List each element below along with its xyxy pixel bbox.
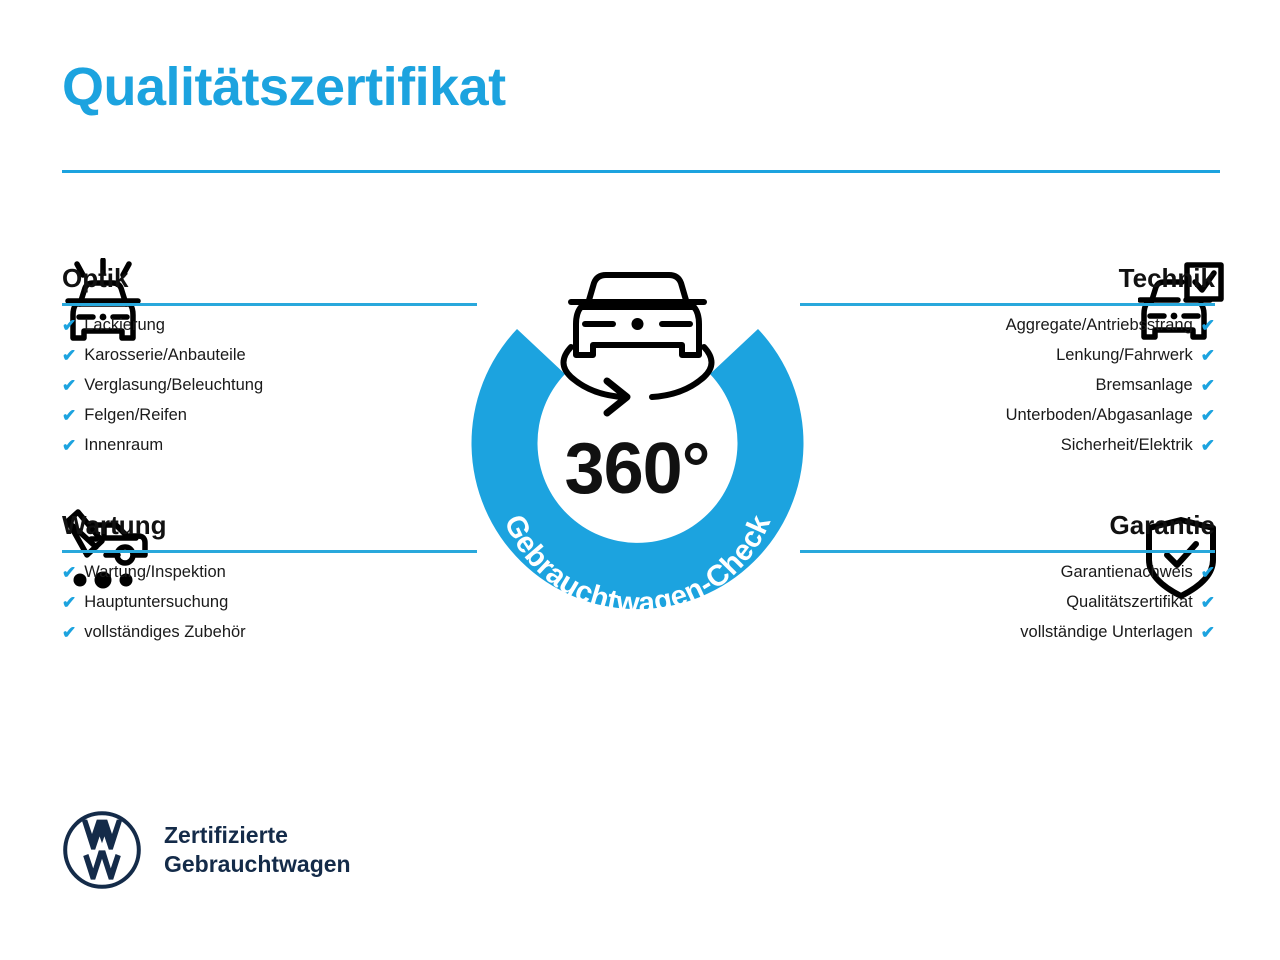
section-title-optik: Optik: [62, 258, 477, 298]
list-item-label: Aggregate/Antriebsstrang: [1006, 310, 1193, 340]
list-item: Aggregate/Antriebsstrang✔: [800, 310, 1215, 340]
list-item: ✔Karosserie/Anbauteile: [62, 340, 477, 370]
list-item: Unterboden/Abgasanlage✔: [800, 400, 1215, 430]
list-item-label: vollständige Unterlagen: [1020, 617, 1192, 647]
checklist-optik: ✔Lackierung ✔Karosserie/Anbauteile ✔Verg…: [62, 310, 477, 460]
section-header-optik: Optik: [62, 258, 477, 310]
title-divider: [62, 170, 1220, 173]
check-icon: ✔: [62, 347, 76, 364]
footer-brand: Zertifizierte Gebrauchtwagen: [62, 810, 351, 890]
list-item: Sicherheit/Elektrik✔: [800, 430, 1215, 460]
check-icon: ✔: [1201, 564, 1215, 581]
check-icon: ✔: [1201, 377, 1215, 394]
check-icon: ✔: [1201, 594, 1215, 611]
section-technik: Technik Aggregate/Antriebsstrang✔ Lenkun…: [800, 258, 1215, 460]
list-item: ✔Lackierung: [62, 310, 477, 340]
list-item: ✔Felgen/Reifen: [62, 400, 477, 430]
list-item-label: Hauptuntersuchung: [84, 587, 228, 617]
list-item: ✔Verglasung/Beleuchtung: [62, 370, 477, 400]
check-icon: ✔: [1201, 407, 1215, 424]
list-item-label: Felgen/Reifen: [84, 400, 187, 430]
check-icon: ✔: [62, 594, 76, 611]
list-item-label: Qualitätszertifikat: [1066, 587, 1193, 617]
list-item-label: Verglasung/Beleuchtung: [84, 370, 263, 400]
section-title-garantie: Garantie: [800, 505, 1215, 545]
section-title-technik: Technik: [800, 258, 1215, 298]
car-rotate-360-icon: [564, 275, 712, 413]
section-header-garantie: Garantie: [800, 505, 1215, 557]
checklist-garantie: Garantienachweis✔ Qualitätszertifikat✔ v…: [800, 557, 1215, 647]
check-icon: ✔: [62, 437, 76, 454]
check-icon: ✔: [1201, 347, 1215, 364]
section-title-wartung: Wartung: [62, 505, 477, 545]
list-item-label: Karosserie/Anbauteile: [84, 340, 245, 370]
list-item-label: Unterboden/Abgasanlage: [1006, 400, 1193, 430]
list-item-label: Innenraum: [84, 430, 163, 460]
badge-center-label: 360°: [565, 429, 710, 509]
section-divider-garantie: [800, 550, 1215, 553]
page-title: Qualitätszertifikat: [62, 58, 506, 117]
section-divider-wartung: [62, 550, 477, 553]
section-wartung: Wartung ✔Wartung/Inspektion ✔Hauptunters…: [62, 505, 477, 647]
section-divider-technik: [800, 303, 1215, 306]
checklist-wartung: ✔Wartung/Inspektion ✔Hauptuntersuchung ✔…: [62, 557, 477, 647]
list-item: ✔vollständiges Zubehör: [62, 617, 477, 647]
section-divider-optik: [62, 303, 477, 306]
list-item: ✔Hauptuntersuchung: [62, 587, 477, 617]
list-item: Qualitätszertifikat✔: [800, 587, 1215, 617]
check-icon: ✔: [62, 624, 76, 641]
list-item: Bremsanlage✔: [800, 370, 1215, 400]
list-item-label: Bremsanlage: [1096, 370, 1193, 400]
section-header-technik: Technik: [800, 258, 1215, 310]
section-garantie: Garantie Garantienachweis✔ Qualitätszert…: [800, 505, 1215, 647]
footer-brand-text: Zertifizierte Gebrauchtwagen: [164, 821, 351, 879]
list-item-label: Garantienachweis: [1061, 557, 1193, 587]
volkswagen-logo-icon: [62, 810, 142, 890]
check-icon: ✔: [62, 377, 76, 394]
section-optik: Optik ✔Lackierung ✔Karosserie/Anbauteile…: [62, 258, 477, 460]
list-item: ✔Innenraum: [62, 430, 477, 460]
list-item: Garantienachweis✔: [800, 557, 1215, 587]
list-item: vollständige Unterlagen✔: [800, 617, 1215, 647]
check-icon: ✔: [62, 564, 76, 581]
check-icon: ✔: [62, 317, 76, 334]
list-item-label: Sicherheit/Elektrik: [1061, 430, 1193, 460]
check-icon: ✔: [62, 407, 76, 424]
check-icon: ✔: [1201, 317, 1215, 334]
section-header-wartung: Wartung: [62, 505, 477, 557]
checklist-technik: Aggregate/Antriebsstrang✔ Lenkung/Fahrwe…: [800, 310, 1215, 460]
check-icon: ✔: [1201, 437, 1215, 454]
badge-360-gebrauchtwagen-check: 360° Gebrauchtwagen-Check: [455, 245, 820, 645]
check-icon: ✔: [1201, 624, 1215, 641]
list-item: Lenkung/Fahrwerk✔: [800, 340, 1215, 370]
list-item-label: Lenkung/Fahrwerk: [1056, 340, 1193, 370]
list-item: ✔Wartung/Inspektion: [62, 557, 477, 587]
list-item-label: Lackierung: [84, 310, 165, 340]
list-item-label: vollständiges Zubehör: [84, 617, 245, 647]
list-item-label: Wartung/Inspektion: [84, 557, 226, 587]
